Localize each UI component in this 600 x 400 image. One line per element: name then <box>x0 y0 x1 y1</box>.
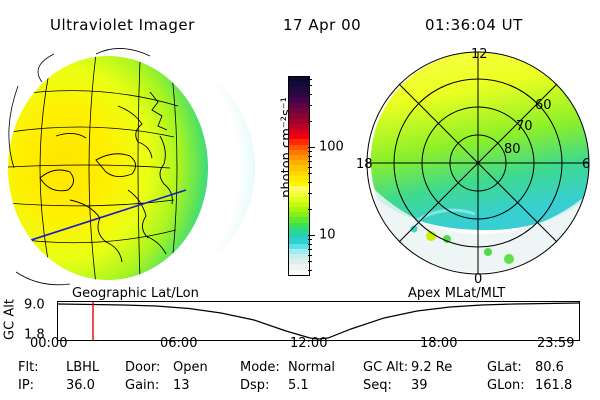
orbit-xtick-2: 12:00 <box>290 336 327 351</box>
status-key: GLat: <box>487 360 522 375</box>
status-key: Flt: <box>18 360 39 375</box>
mlt-label-18: 18 <box>357 157 373 172</box>
colorbar-tick <box>308 235 315 236</box>
status-key: Door: <box>125 360 160 375</box>
colorbar-tick <box>308 156 312 157</box>
colorbar-tick <box>308 94 312 95</box>
status-row-2: IP:36.0Gain:13Dsp:5.1Seq:39GLon:161.8 <box>0 378 600 396</box>
observation-date: 17 Apr 00 <box>283 16 361 34</box>
geographic-globe-panel[interactable] <box>0 40 262 290</box>
status-bar: Flt:LBHLDoor:OpenMode:NormalGC Alt:9.2 R… <box>0 360 600 400</box>
status-key: Mode: <box>240 360 280 375</box>
mlt-label-12: 12 <box>471 47 488 62</box>
status-key: Dsp: <box>240 378 269 393</box>
mlat-label-80: 80 <box>504 142 521 157</box>
colorbar-tick <box>308 173 312 174</box>
status-value: 13 <box>173 378 190 393</box>
colorbar-tick <box>308 244 312 245</box>
status-value: 36.0 <box>66 378 95 393</box>
orbit-altitude-trace <box>58 303 579 339</box>
colorbar-gradient <box>288 76 310 276</box>
orbit-xtick-4: 23:59 <box>537 336 574 351</box>
status-key: Seq: <box>363 378 392 393</box>
colorbar-tick <box>308 209 312 210</box>
status-value: Open <box>173 360 208 375</box>
colorbar-band-37 <box>289 270 309 275</box>
status-value: 161.8 <box>535 378 572 393</box>
orbit-ytick-high: 9.0 <box>24 298 45 313</box>
geographic-caption: Geographic Lat/Lon <box>72 286 199 301</box>
status-value: Normal <box>288 360 335 375</box>
colorbar-tick <box>308 161 312 162</box>
colorbar-ticks: 10010 <box>308 76 348 276</box>
colorbar-tick-label-100: 100 <box>319 140 344 155</box>
status-value: 80.6 <box>535 360 564 375</box>
colorbar-tick <box>308 167 312 168</box>
orbit-xtick-0: 00:00 <box>30 336 67 351</box>
mlt-label-6: 6 <box>582 157 590 172</box>
colorbar-tick <box>308 261 312 262</box>
apex-polar-image[interactable]: 12 18 6 0 60 70 80 <box>357 40 600 290</box>
status-value: 39 <box>411 378 428 393</box>
colorbar-tick <box>308 147 315 148</box>
polar-grid <box>367 52 589 274</box>
colorbar-tick <box>308 85 312 86</box>
mlat-label-60: 60 <box>535 98 552 113</box>
colorbar-tick <box>308 105 312 106</box>
colorbar-tick <box>308 239 312 240</box>
status-key: GLon: <box>487 378 525 393</box>
status-value: 5.1 <box>288 378 309 393</box>
orbit-xtick-3: 18:00 <box>420 336 457 351</box>
status-value: LBHL <box>66 360 99 375</box>
orbit-altitude-panel[interactable]: Geographic Lat/Lon Apex MLat/MLT GC Alt … <box>0 292 600 354</box>
mlat-label-70: 70 <box>516 119 533 134</box>
colorbar-tick <box>308 182 312 183</box>
colorbar-tick <box>308 270 312 271</box>
orbit-plot-box[interactable] <box>57 301 580 341</box>
earth-disk <box>8 56 208 280</box>
status-key: Gain: <box>125 378 159 393</box>
colorbar-tick-label-10: 10 <box>319 228 336 243</box>
colorbar-panel: photon cm⁻²s⁻¹ 10010 <box>262 40 357 290</box>
colorbar-tick <box>308 255 312 256</box>
observation-time: 01:36:04 UT <box>425 16 523 34</box>
status-key: GC Alt: <box>363 360 408 375</box>
instrument-title: Ultraviolet Imager <box>50 16 195 34</box>
colorbar-tick <box>308 193 312 194</box>
colorbar-tick <box>308 79 312 80</box>
apex-polar-panel[interactable]: 12 18 6 0 60 70 80 <box>357 40 600 290</box>
colorbar-tick <box>308 121 312 122</box>
geographic-globe-image[interactable] <box>0 40 262 290</box>
status-value: 9.2 Re <box>411 360 452 375</box>
status-key: IP: <box>18 378 34 393</box>
apex-caption: Apex MLat/MLT <box>408 286 505 301</box>
header-bar: Ultraviolet Imager 17 Apr 00 01:36:04 UT <box>0 8 600 34</box>
colorbar-tick <box>308 249 312 250</box>
colorbar-tick <box>308 151 312 152</box>
orbit-y-axis-label: GC Alt <box>2 296 18 344</box>
mlt-label-0: 0 <box>474 272 482 287</box>
orbit-xtick-1: 06:00 <box>160 336 197 351</box>
orbit-track-svg[interactable] <box>58 302 579 340</box>
status-row-1: Flt:LBHLDoor:OpenMode:NormalGC Alt:9.2 R… <box>0 360 600 378</box>
